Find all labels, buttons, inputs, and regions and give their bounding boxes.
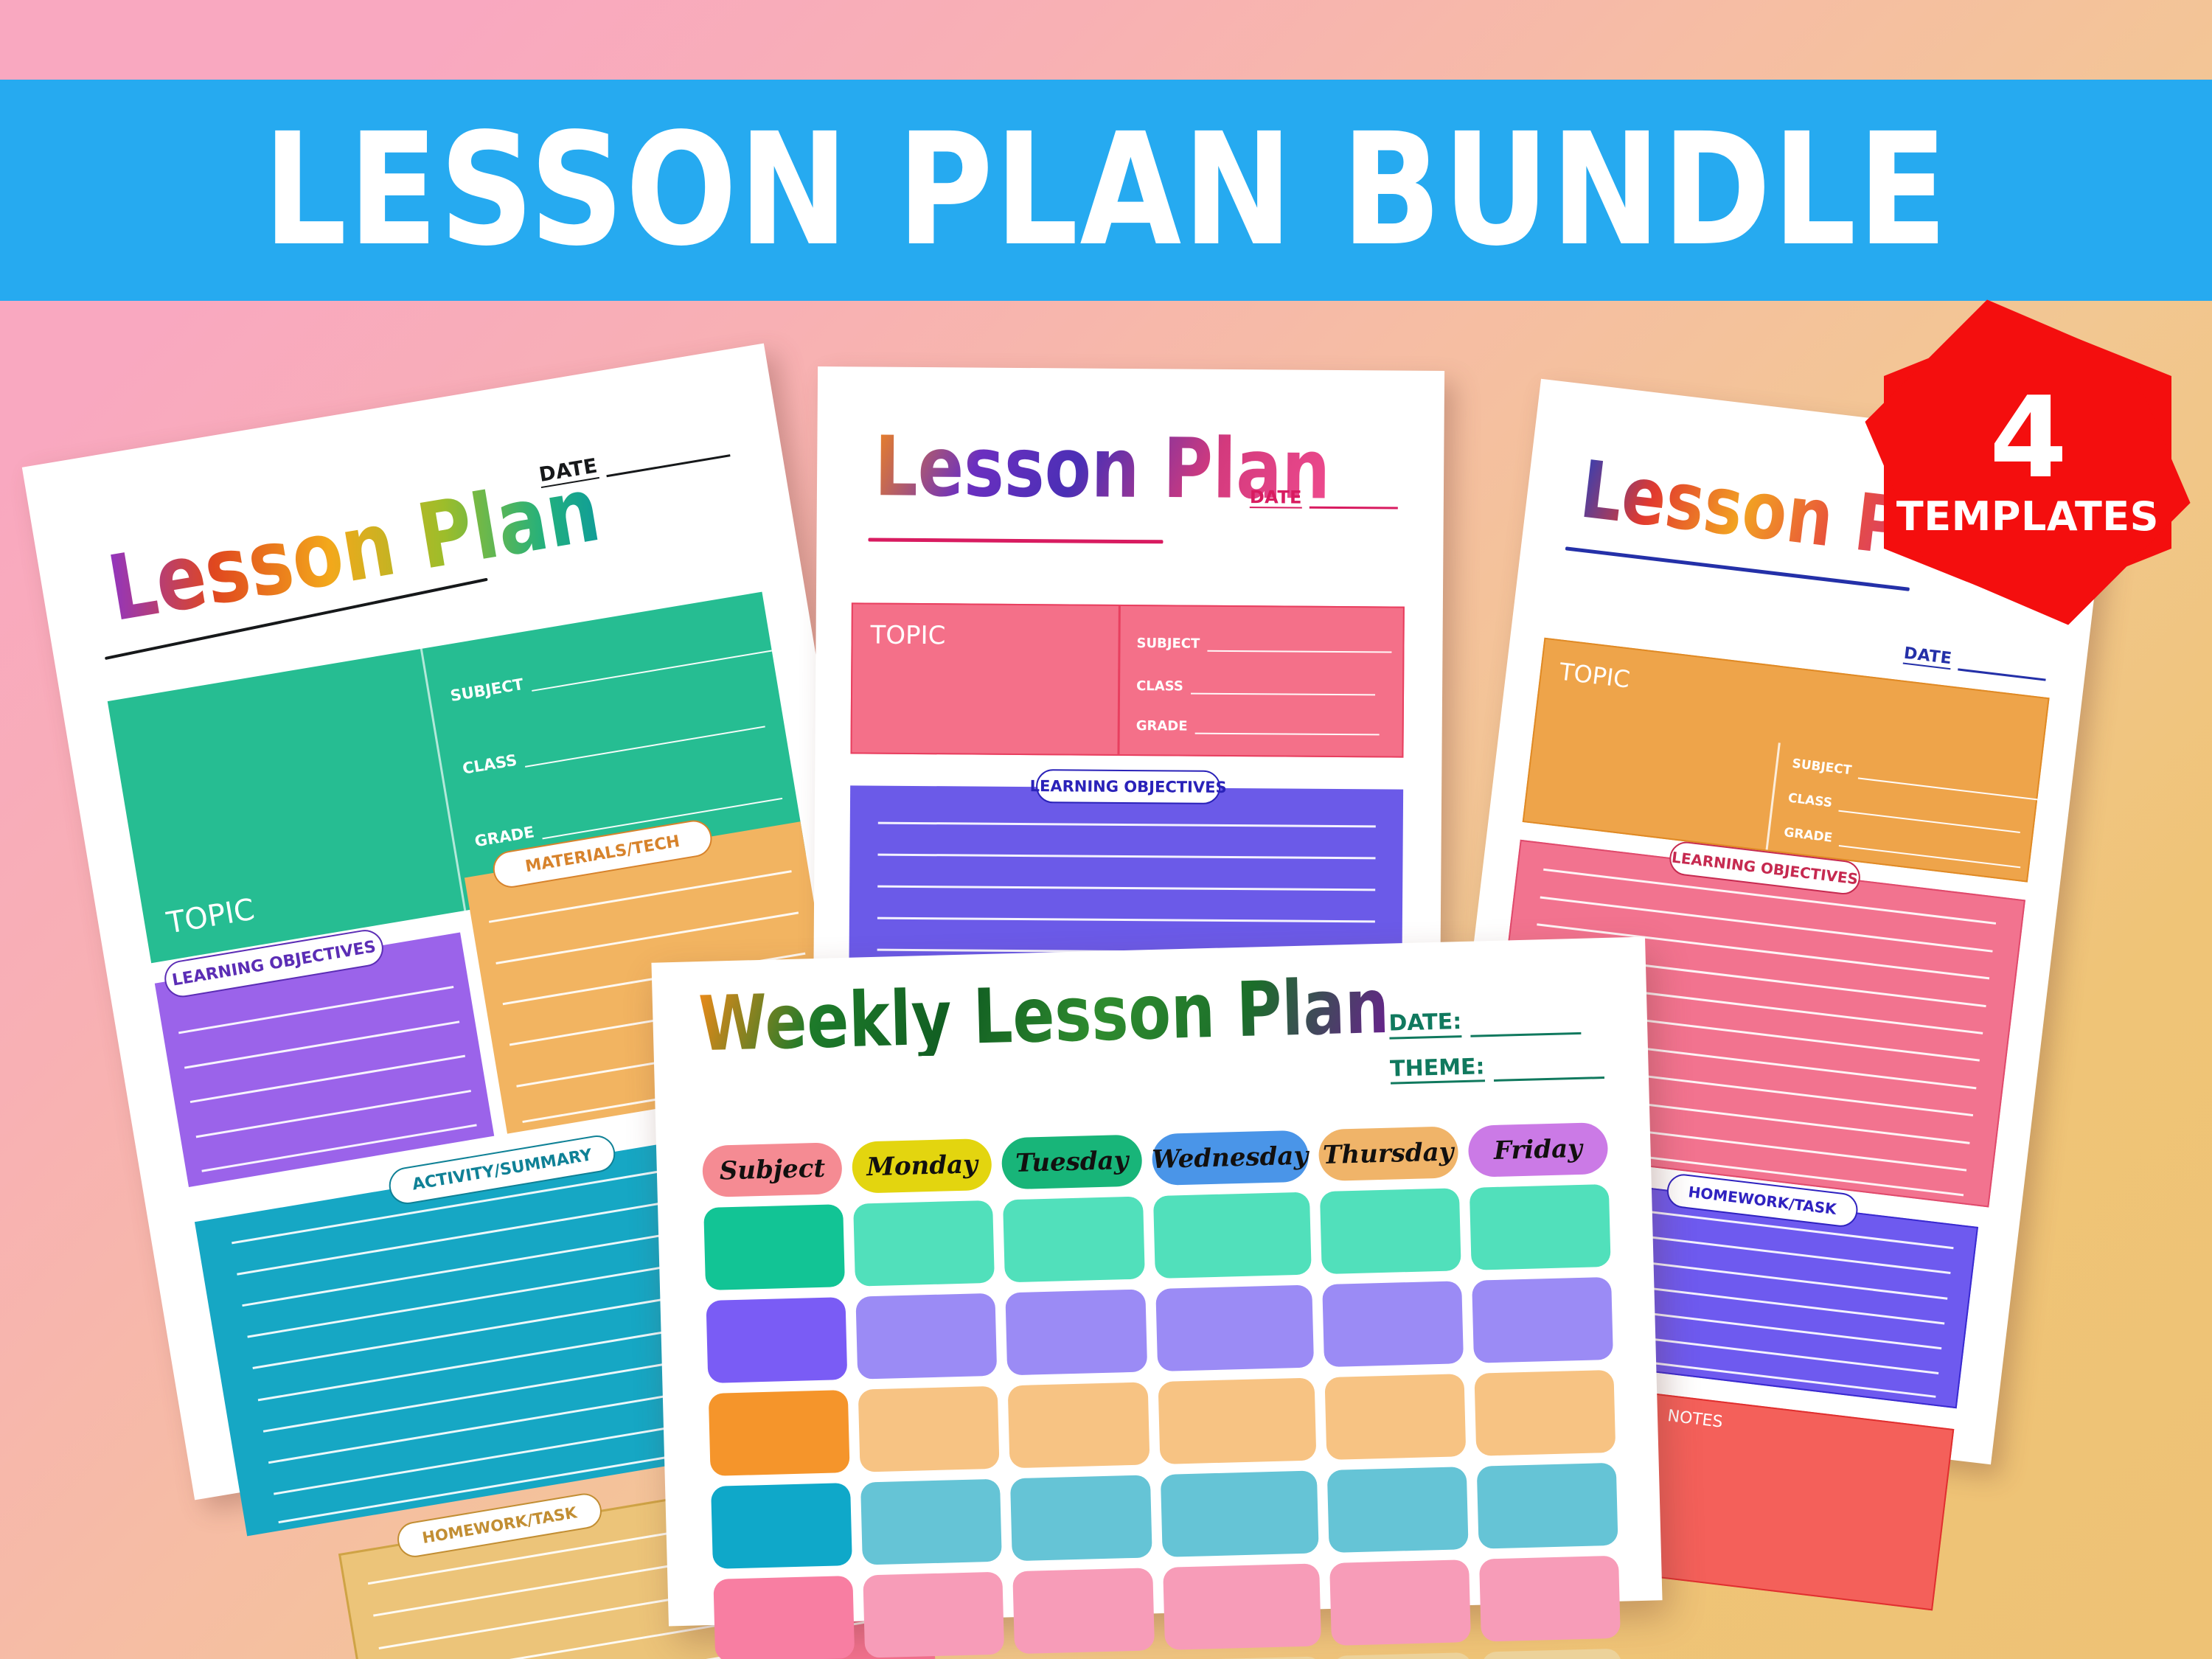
weekly-column-header-thursday: Thursday — [1318, 1126, 1458, 1181]
sheet2-date-line[interactable] — [1310, 494, 1398, 509]
sheet2-field-grade-label: GRADE — [1136, 718, 1188, 734]
weekly-cell-r3-c2[interactable] — [858, 1386, 1000, 1472]
sheet2-learning-objectives-pill: LEARNING OBJECTIVES — [1036, 769, 1220, 804]
sheet3-topic-label: TOPIC — [1558, 658, 1632, 694]
sheet2-field-subject-line[interactable] — [1207, 641, 1391, 653]
top-banner: LESSON PLAN BUNDLE — [0, 80, 2212, 301]
weekly-cell-r4-c4[interactable] — [1161, 1470, 1319, 1557]
sheet1-date-field[interactable]: DATE — [538, 434, 730, 488]
weekly-cell-r6-c6[interactable] — [1481, 1649, 1623, 1659]
sheet1-field-class[interactable]: CLASS — [462, 710, 766, 778]
badge-count: 4 — [1989, 385, 2066, 491]
weekly-date-line[interactable] — [1470, 1013, 1582, 1037]
templates-count-badge: 4 TEMPLATES — [1884, 319, 2171, 606]
weekly-cell-r3-c3[interactable] — [1008, 1382, 1150, 1468]
sheet3-notes-label: NOTES — [1666, 1407, 1724, 1432]
weekly-cell-r5-c6[interactable] — [1479, 1556, 1621, 1642]
sheet2-field-class-line[interactable] — [1191, 684, 1375, 696]
sheet2-date-field[interactable]: DATE — [1250, 487, 1398, 509]
sheet2-field-grade-line[interactable] — [1194, 724, 1379, 736]
sheet3-field-grade-line[interactable] — [1839, 836, 2022, 868]
weekly-cell-r1-c6[interactable] — [1470, 1184, 1611, 1270]
sheet3-field-class-label: CLASS — [1787, 790, 1833, 810]
sheet3-date-line[interactable] — [1958, 658, 2047, 681]
sheet1-field-subject-label: SUBJECT — [449, 675, 525, 705]
sheet1-topic-label: TOPIC — [164, 892, 257, 940]
weekly-cell-r1-c4[interactable] — [1153, 1192, 1312, 1279]
sheet2-field-class[interactable]: CLASS — [1136, 678, 1375, 695]
weekly-cell-r4-c3[interactable] — [1010, 1475, 1152, 1561]
sheet2-topic-divider — [1117, 606, 1120, 754]
poster-canvas: LESSON PLAN BUNDLE Lesson Plan DATE TOPI… — [0, 0, 2212, 1659]
badge-label: TEMPLATES — [1896, 493, 2159, 540]
badge-content: 4 TEMPLATES — [1884, 319, 2171, 606]
weekly-cell-r2-c2[interactable] — [856, 1293, 998, 1380]
weekly-cell-r1-c2[interactable] — [853, 1200, 995, 1287]
weekly-cell-r2-c1[interactable] — [706, 1297, 847, 1383]
weekly-grid: SubjectMondayTuesdayWednesdayThursdayFri… — [702, 1122, 1623, 1659]
weekly-cell-r6-c4[interactable] — [1165, 1656, 1324, 1659]
weekly-cell-r2-c3[interactable] — [1006, 1289, 1147, 1375]
weekly-date-label: DATE: — [1388, 1009, 1462, 1039]
weekly-cell-r1-c1[interactable] — [703, 1204, 845, 1290]
weekly-cell-r6-c5[interactable] — [1332, 1652, 1473, 1659]
sheet1-date-line[interactable] — [604, 440, 730, 477]
weekly-cell-r5-c4[interactable] — [1163, 1563, 1321, 1650]
sheet1-field-subject-line[interactable] — [530, 640, 772, 692]
weekly-theme-label: THEME: — [1390, 1054, 1485, 1085]
sheet2-topic-label: TOPIC — [870, 621, 945, 651]
weekly-cell-r5-c3[interactable] — [1013, 1568, 1155, 1654]
sheet3-field-class-line[interactable] — [1839, 801, 2022, 833]
sheet3-field-subject[interactable]: SUBJECT — [1791, 757, 2041, 801]
weekly-column-header-wednesday: Wednesday — [1151, 1130, 1309, 1186]
weekly-cell-r5-c2[interactable] — [863, 1572, 1005, 1658]
sheet3-field-grade-label: GRADE — [1783, 825, 1833, 846]
sheet3-date-label: DATE — [1902, 645, 1952, 670]
weekly-cell-r2-c4[interactable] — [1155, 1285, 1314, 1372]
sheet2-field-class-label: CLASS — [1136, 678, 1183, 694]
weekly-cell-r4-c6[interactable] — [1476, 1463, 1618, 1549]
sheet2-date-label: DATE — [1250, 487, 1302, 509]
weekly-title: Weekly Lesson Plan — [698, 968, 1390, 1062]
sheet1-field-class-label: CLASS — [462, 751, 518, 778]
sheet2-lo-pill-label: LEARNING OBJECTIVES — [1030, 777, 1227, 796]
weekly-cell-r1-c5[interactable] — [1319, 1188, 1461, 1274]
weekly-cell-r3-c4[interactable] — [1158, 1377, 1316, 1464]
weekly-column-header-friday: Friday — [1467, 1122, 1608, 1178]
weekly-cell-r2-c5[interactable] — [1322, 1281, 1464, 1367]
weekly-column-header-tuesday: Tuesday — [1001, 1134, 1142, 1189]
sheet1-field-subject[interactable]: SUBJECT — [449, 634, 772, 705]
weekly-theme-field[interactable]: THEME: — [1390, 1051, 1604, 1085]
weekly-lesson-plan-sheet: Weekly Lesson Plan DATE: THEME: SubjectM… — [651, 937, 1662, 1627]
weekly-meta: DATE: THEME: — [1388, 1006, 1605, 1102]
weekly-cell-r5-c1[interactable] — [713, 1576, 855, 1659]
weekly-cell-r2-c6[interactable] — [1472, 1277, 1613, 1363]
sheet3-topic-divider — [1766, 742, 1781, 849]
sheet1-field-grade-label: GRADE — [473, 823, 535, 850]
sheet3-date-field[interactable]: DATE — [1902, 645, 2048, 681]
sheet2-topic-box[interactable]: TOPIC SUBJECT CLASS GRADE — [850, 602, 1404, 757]
sheet2-field-subject-label: SUBJECT — [1136, 636, 1200, 652]
sheet2-title-rule — [868, 538, 1163, 544]
sheet1-field-class-line[interactable] — [524, 716, 765, 768]
sheet3-field-subject-label: SUBJECT — [1791, 757, 1852, 778]
weekly-column-header-monday: Monday — [852, 1138, 992, 1194]
sheet1-title: Lesson Plan — [102, 465, 605, 635]
sheet3-field-class[interactable]: CLASS — [1787, 790, 2022, 833]
weekly-cell-r4-c5[interactable] — [1326, 1467, 1468, 1553]
weekly-cell-r4-c1[interactable] — [711, 1483, 852, 1569]
weekly-date-field[interactable]: DATE: — [1388, 1006, 1603, 1039]
weekly-cell-r5-c5[interactable] — [1329, 1559, 1471, 1646]
sheet2-field-subject[interactable]: SUBJECT — [1136, 636, 1391, 653]
banner-title: LESSON PLAN BUNDLE — [263, 113, 1949, 268]
weekly-cell-r3-c1[interactable] — [709, 1390, 850, 1476]
sheet3-field-subject-line[interactable] — [1858, 769, 2041, 801]
weekly-column-header-subject: Subject — [702, 1142, 843, 1197]
sheet2-field-grade[interactable]: GRADE — [1136, 718, 1380, 735]
sheet3-topic-box[interactable]: TOPIC SUBJECT CLASS GRADE — [1523, 638, 2050, 883]
weekly-cell-r4-c2[interactable] — [860, 1479, 1002, 1565]
weekly-cell-r1-c3[interactable] — [1003, 1196, 1144, 1282]
weekly-cell-r3-c5[interactable] — [1324, 1374, 1466, 1460]
weekly-theme-line[interactable] — [1493, 1058, 1604, 1082]
weekly-cell-r3-c6[interactable] — [1474, 1370, 1615, 1456]
